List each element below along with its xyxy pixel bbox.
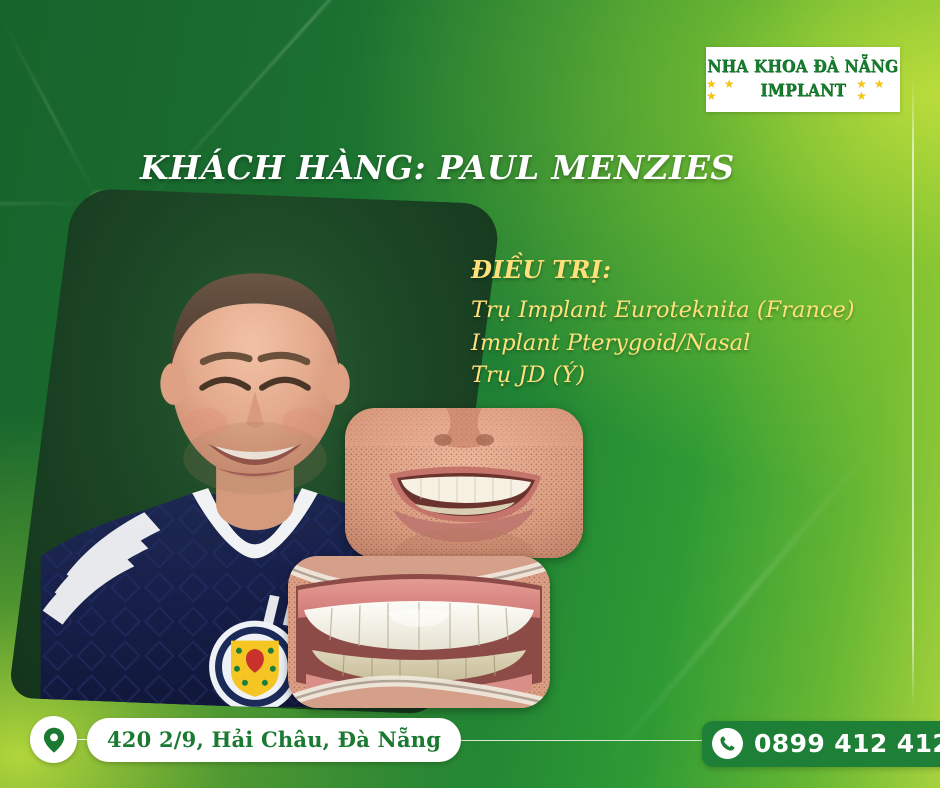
promo-poster: NHA KHOA ĐÀ NẴNG ★ ★ ★ IMPLANT ★ ★ ★ KHÁ… xyxy=(0,0,940,788)
light-streak-ray-up xyxy=(1,18,101,204)
phone-icon xyxy=(712,728,743,759)
page-title: KHÁCH HÀNG: PAUL MENZIES xyxy=(140,148,735,187)
clinic-logo: NHA KHOA ĐÀ NẴNG ★ ★ ★ IMPLANT ★ ★ ★ xyxy=(706,47,900,112)
logo-implant-row: ★ ★ ★ IMPLANT ★ ★ ★ xyxy=(706,78,900,102)
phone-number: 0899 412 412 xyxy=(754,729,940,758)
treatment-title: ĐIỀU TRỊ: xyxy=(471,255,911,284)
treatment-block: ĐIỀU TRỊ: Trụ Implant Euroteknita (Franc… xyxy=(471,255,911,392)
address-text: 420 2/9, Hải Châu, Đà Nẵng xyxy=(107,727,441,752)
closeup-intraoral-photo xyxy=(288,556,550,708)
map-pin-icon xyxy=(30,716,77,763)
treatment-line-3: Trụ JD (Ý) xyxy=(471,359,911,392)
closeup-smile-photo xyxy=(345,408,583,558)
treatment-line-2: Implant Pterygoid/Nasal xyxy=(471,327,911,360)
address-badge[interactable]: 420 2/9, Hải Châu, Đà Nẵng xyxy=(30,716,461,763)
vertical-accent-line xyxy=(912,78,914,706)
logo-stars-left-icon: ★ ★ ★ xyxy=(706,78,750,102)
phone-badge[interactable]: 0899 412 412 xyxy=(702,721,940,767)
logo-implant-word: IMPLANT xyxy=(760,81,846,100)
address-pill[interactable]: 420 2/9, Hải Châu, Đà Nẵng xyxy=(87,718,461,762)
treatment-line-1: Trụ Implant Euroteknita (France) xyxy=(471,294,911,327)
logo-clinic-name: NHA KHOA ĐÀ NẴNG xyxy=(708,57,899,76)
logo-stars-right-icon: ★ ★ ★ xyxy=(856,78,900,102)
